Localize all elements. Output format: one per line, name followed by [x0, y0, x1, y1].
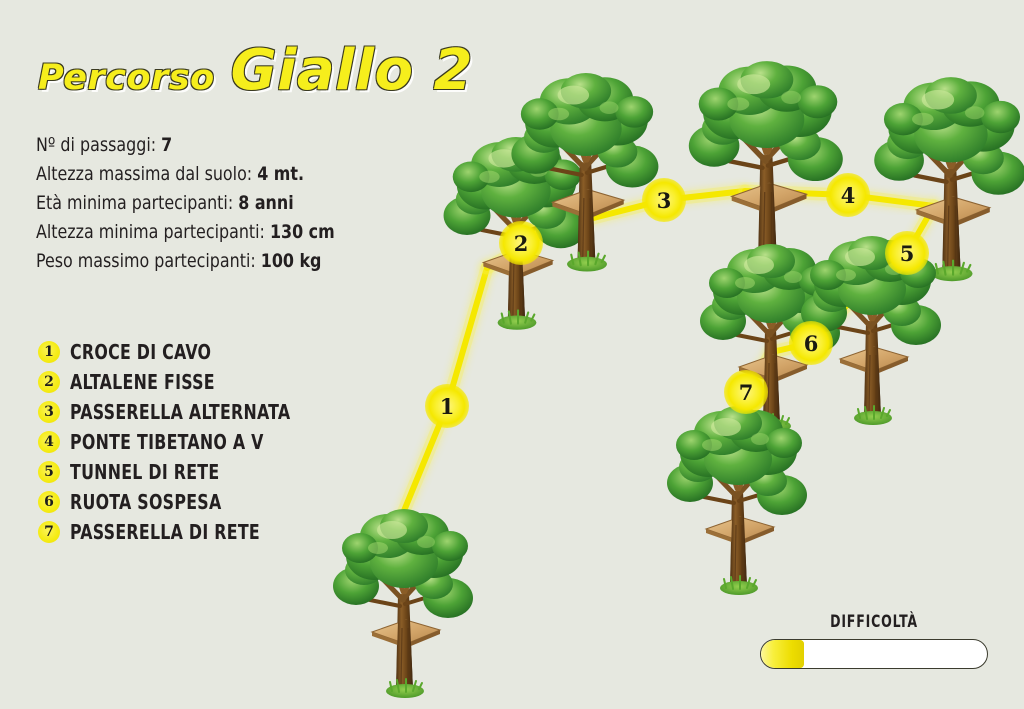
- legend-number-badge: 7: [38, 521, 60, 543]
- spec-value: 100 kg: [261, 250, 322, 272]
- legend-item-label: PASSERELLA DI RETE: [70, 520, 260, 544]
- spec-label: Altezza minima partecipanti:: [36, 221, 270, 243]
- spec-row: Peso massimo partecipanti: 100 kg: [36, 247, 371, 276]
- legend-number-badge: 2: [38, 371, 60, 393]
- tree-with-platform: [330, 508, 480, 708]
- difficulty-bar-track: [760, 639, 988, 669]
- legend-number-badge: 5: [38, 461, 60, 483]
- path-marker-number: 4: [841, 185, 856, 206]
- spec-value: 7: [161, 134, 172, 156]
- path-marker-4[interactable]: 4: [826, 173, 870, 217]
- spec-label: Peso massimo partecipanti:: [36, 250, 261, 272]
- legend-number-badge: 3: [38, 401, 60, 423]
- legend-number-badge: 6: [38, 491, 60, 513]
- legend-item-4[interactable]: 4PONTE TIBETANO A V: [38, 427, 368, 457]
- spec-row: Nº di passaggi: 7: [36, 131, 371, 160]
- tree-with-platform: [664, 405, 814, 605]
- legend-item-5[interactable]: 5TUNNEL DI RETE: [38, 457, 368, 487]
- difficulty-label: DIFFICOLTÀ: [781, 612, 968, 632]
- spec-value: 8 anni: [238, 192, 293, 214]
- page-title: Percorso Giallo 2: [38, 38, 473, 103]
- title-prefix: Percorso: [38, 58, 215, 98]
- legend-number-badge: 4: [38, 431, 60, 453]
- spec-value: 130 cm: [270, 221, 335, 243]
- path-marker-3[interactable]: 3: [642, 178, 686, 222]
- obstacle-legend-list: 1CROCE DI CAVO2ALTALENE FISSE3PASSERELLA…: [38, 337, 368, 547]
- path-marker-number: 5: [900, 243, 915, 264]
- spec-row: Età minima partecipanti: 8 anni: [36, 189, 371, 218]
- path-marker-6[interactable]: 6: [789, 321, 833, 365]
- spec-label: Altezza massima dal suolo:: [36, 163, 257, 185]
- legend-item-3[interactable]: 3PASSERELLA ALTERNATA: [38, 397, 368, 427]
- path-marker-number: 7: [739, 382, 754, 403]
- legend-item-7[interactable]: 7PASSERELLA DI RETE: [38, 517, 368, 547]
- path-marker-1[interactable]: 1: [425, 384, 469, 428]
- path-marker-number: 3: [657, 190, 672, 211]
- path-marker-number: 6: [804, 333, 819, 354]
- legend-item-label: PASSERELLA ALTERNATA: [70, 400, 290, 424]
- spec-label: Età minima partecipanti:: [36, 192, 238, 214]
- legend-item-label: CROCE DI CAVO: [70, 340, 211, 364]
- legend-item-6[interactable]: 6RUOTA SOSPESA: [38, 487, 368, 517]
- legend-item-label: TUNNEL DI RETE: [70, 460, 219, 484]
- course-specs-list: Nº di passaggi: 7Altezza massima dal suo…: [36, 131, 396, 276]
- path-marker-2[interactable]: 2: [499, 221, 543, 265]
- course-map-poster: Percorso Giallo 2 Nº di passaggi: 7Altez…: [0, 0, 1024, 709]
- legend-number-badge: 1: [38, 341, 60, 363]
- legend-item-label: RUOTA SOSPESA: [70, 490, 221, 514]
- path-marker-5[interactable]: 5: [885, 231, 929, 275]
- path-marker-number: 1: [440, 396, 455, 417]
- title-course-name: Giallo 2: [231, 38, 473, 103]
- legend-item-2[interactable]: 2ALTALENE FISSE: [38, 367, 368, 397]
- spec-row: Altezza minima partecipanti: 130 cm: [36, 218, 371, 247]
- legend-item-label: PONTE TIBETANO A V: [70, 430, 264, 454]
- spec-label: Nº di passaggi:: [36, 134, 161, 156]
- spec-value: 4 mt.: [257, 163, 304, 185]
- difficulty-meter: DIFFICOLTÀ: [760, 612, 988, 669]
- path-marker-number: 2: [514, 233, 529, 254]
- legend-item-1[interactable]: 1CROCE DI CAVO: [38, 337, 368, 367]
- legend-item-label: ALTALENE FISSE: [70, 370, 215, 394]
- difficulty-bar-fill: [761, 640, 804, 668]
- path-marker-7[interactable]: 7: [724, 370, 768, 414]
- spec-row: Altezza massima dal suolo: 4 mt.: [36, 160, 371, 189]
